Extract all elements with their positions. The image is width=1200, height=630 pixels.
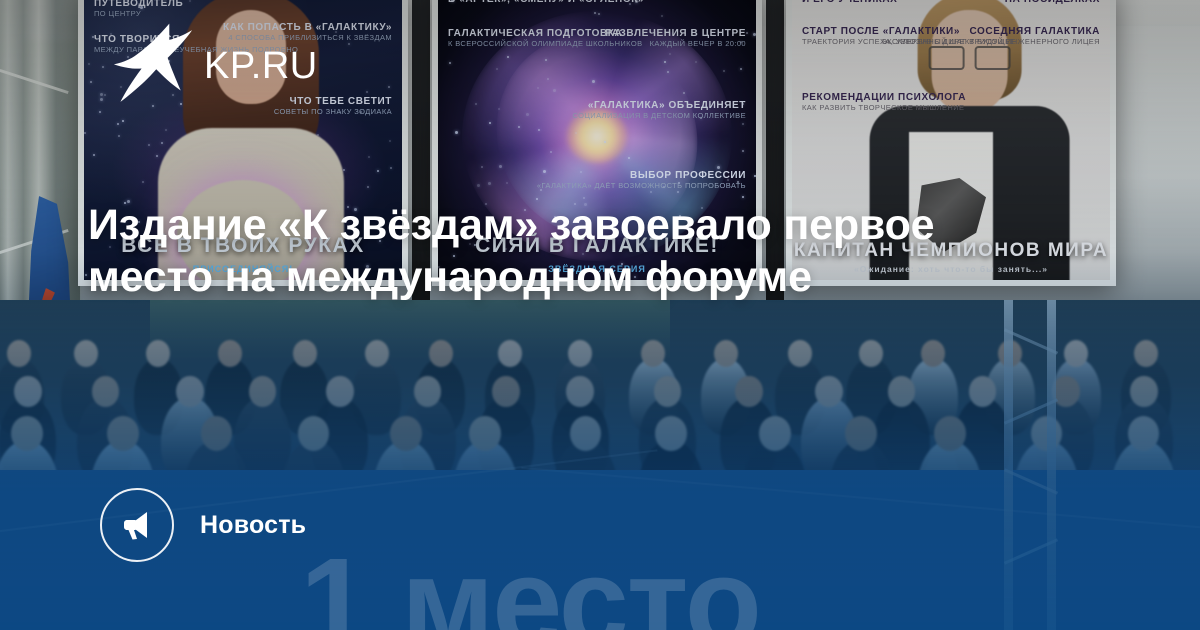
kp-logo-text: KP.RU (204, 47, 318, 85)
news-card: ПУТЕВОДИТЕЛЬ ПО ЦЕНТРУ ЧТО ТВОРИТСЯ МЕЖД… (0, 0, 1200, 630)
badge-label: Новость (200, 511, 306, 540)
place-watermark: 1 место (300, 540, 760, 630)
badge-circle (100, 488, 174, 562)
page-title: Издание «К звёздам» завоевало первое мес… (88, 200, 1048, 303)
kp-logo[interactable]: KP.RU (112, 22, 318, 110)
megaphone-icon (117, 505, 157, 545)
swallow-bird-icon (112, 22, 194, 110)
news-badge[interactable]: Новость (100, 488, 306, 562)
